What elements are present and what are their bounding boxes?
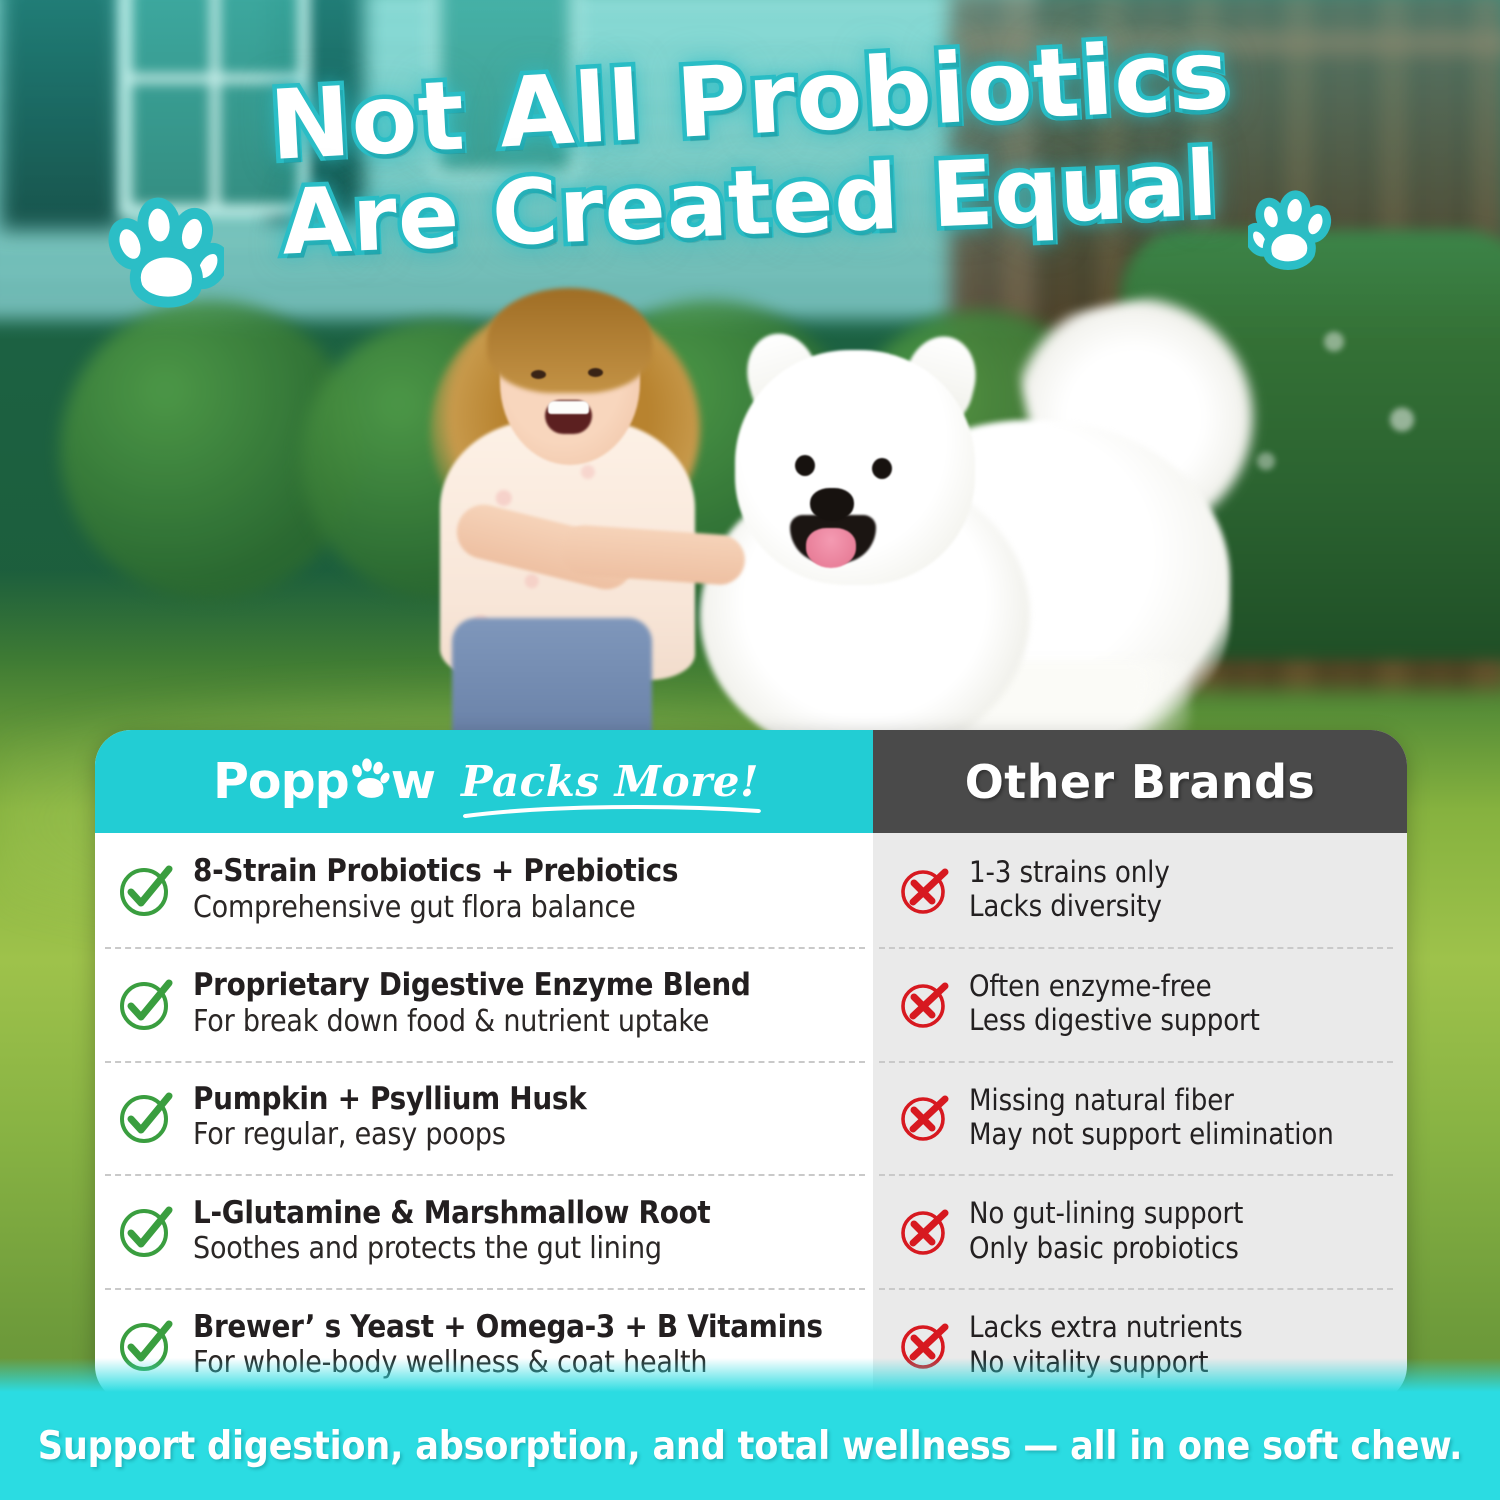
row-subtitle: Only basic probiotics <box>969 1231 1243 1266</box>
check-circle-icon <box>117 861 175 919</box>
row-title: Often enzyme-free <box>969 969 1260 1003</box>
table-row: 8-Strain Probiotics + Prebiotics Compreh… <box>95 833 873 947</box>
girl-eye-right <box>588 368 603 377</box>
footer-band: Support digestion, absorption, and total… <box>0 1392 1500 1500</box>
row-subtitle: Less digestive support <box>969 1003 1260 1038</box>
logo-text-pre: Popp <box>213 753 349 810</box>
row-title: Pumpkin + Psyllium Husk <box>193 1081 586 1118</box>
row-subtitle: Comprehensive gut flora balance <box>193 890 678 927</box>
paw-print-icon <box>104 192 224 310</box>
row-title: No gut-lining support <box>969 1196 1243 1230</box>
brand-column-header: Popp w <box>95 730 873 833</box>
brand-tagline: Packs More! <box>461 757 759 806</box>
row-title: Brewer’ s Yeast + Omega-3 + B Vitamins <box>193 1309 823 1346</box>
girl-hair-top <box>487 288 652 393</box>
other-brands-rows: 1-3 strains only Lacks diversity Often e… <box>873 833 1407 1402</box>
table-row: Often enzyme-free Less digestive support <box>873 947 1407 1061</box>
girl-teeth <box>548 401 589 414</box>
check-circle-icon <box>117 975 175 1033</box>
logo-text-post: w <box>391 753 435 810</box>
row-subtitle: May not support elimination <box>969 1117 1334 1152</box>
row-subtitle: For regular, easy poops <box>193 1117 586 1154</box>
x-circle-icon <box>899 1091 951 1143</box>
footer-band-fade <box>0 1358 1500 1392</box>
x-circle-icon <box>899 1205 951 1257</box>
brand-column: Popp w <box>95 730 873 1402</box>
check-circle-icon <box>117 1088 175 1146</box>
dog-nose <box>810 488 854 521</box>
logo-paw-print-icon <box>349 757 391 801</box>
table-row: Pumpkin + Psyllium Husk For regular, eas… <box>95 1061 873 1175</box>
check-circle-icon <box>117 1202 175 1260</box>
brand-tagline-wrap: Packs More! <box>461 757 759 806</box>
row-title: 8-Strain Probiotics + Prebiotics <box>193 853 678 890</box>
table-row: Missing natural fiber May not support el… <box>873 1061 1407 1175</box>
row-title: Proprietary Digestive Enzyme Blend <box>193 967 751 1004</box>
table-row: Proprietary Digestive Enzyme Blend For b… <box>95 947 873 1061</box>
row-subtitle: For break down food & nutrient uptake <box>193 1004 751 1041</box>
table-row: 1-3 strains only Lacks diversity <box>873 833 1407 947</box>
row-title: Lacks extra nutrients <box>969 1310 1243 1344</box>
footer-text: Support digestion, absorption, and total… <box>38 1424 1462 1469</box>
girl-eye-left <box>531 370 546 379</box>
dog-tongue <box>806 528 856 568</box>
table-row: No gut-lining support Only basic probiot… <box>873 1174 1407 1288</box>
row-title: L-Glutamine & Marshmallow Root <box>193 1195 710 1232</box>
row-subtitle: Lacks diversity <box>969 889 1170 924</box>
dog-eye-left <box>795 455 815 476</box>
poppow-logo: Popp w <box>213 753 435 810</box>
tagline-underline-swoosh <box>463 803 761 819</box>
comparison-table-card: Popp w <box>95 730 1407 1402</box>
other-brands-title: Other Brands <box>965 755 1315 809</box>
other-brands-column: Other Brands 1-3 strains only Lacks dive… <box>873 730 1407 1402</box>
x-circle-icon <box>899 864 951 916</box>
x-circle-icon <box>899 978 951 1030</box>
row-title: 1-3 strains only <box>969 855 1170 889</box>
table-row: L-Glutamine & Marshmallow Root Soothes a… <box>95 1174 873 1288</box>
infographic-canvas: Not All Probiotics Are Created Equal <box>0 0 1500 1500</box>
other-brands-column-header: Other Brands <box>873 730 1407 833</box>
row-title: Missing natural fiber <box>969 1083 1334 1117</box>
paw-print-icon <box>1248 186 1334 272</box>
brand-rows: 8-Strain Probiotics + Prebiotics Compreh… <box>95 833 873 1402</box>
dog-eye-right <box>872 458 892 479</box>
row-subtitle: Soothes and protects the gut lining <box>193 1231 710 1268</box>
